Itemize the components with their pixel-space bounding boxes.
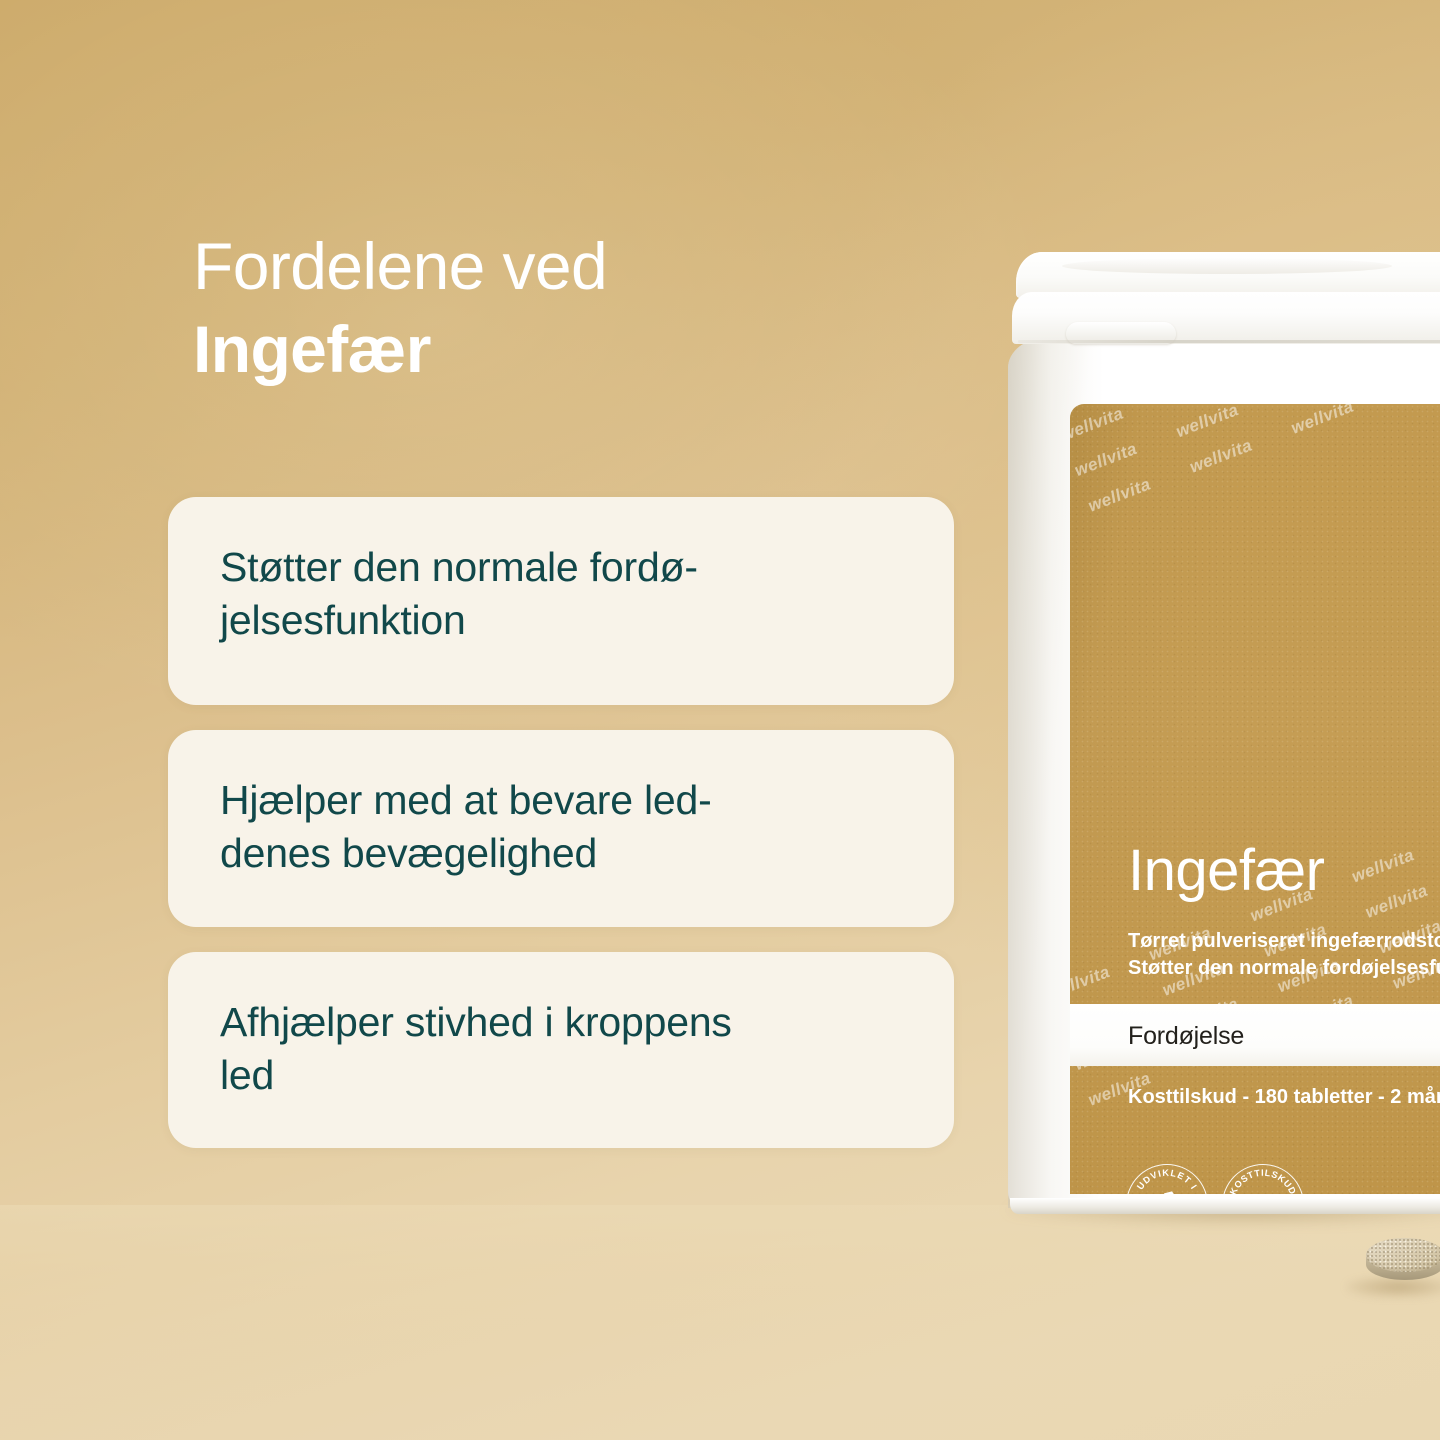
- badge-supplement-since-1983: KOSTTILSKUD SIDEN 1983 1983: [1222, 1164, 1304, 1194]
- wellvita-watermark-top: wellvita wellvita wellvita wellvita well…: [1070, 404, 1440, 564]
- benefit-card-joints: Hjælper med at bevare led- denes bevægel…: [168, 730, 954, 927]
- benefit-card-stiffness: Afhjælper stivhed i kroppens led: [168, 952, 954, 1149]
- denmark-map-icon: [1146, 1187, 1188, 1194]
- label-category-band: [1070, 1004, 1440, 1066]
- watermark-row: wellvita wellvita wellvita wellvita well…: [1070, 404, 1440, 493]
- watermark-word: wellvita: [1160, 404, 1228, 406]
- jar-lid-seam: [1018, 340, 1440, 343]
- product-description: Tørret pulveriseret ingefærrodstok. Støt…: [1128, 928, 1440, 982]
- watermark-word: wellvita: [1072, 439, 1140, 480]
- headline-line-1: Fordelene ved: [193, 228, 833, 305]
- table-surface: [0, 1205, 1440, 1440]
- watermark-word: wellvita: [1070, 404, 1126, 445]
- tablet-face: [1366, 1238, 1440, 1272]
- watermark-word: wellvita: [1187, 436, 1255, 477]
- watermark-word: wellvita: [1288, 404, 1356, 438]
- headline-line-2: Ingefær: [193, 311, 833, 388]
- product-label: wellvita wellvita wellvita wellvita well…: [1070, 404, 1440, 1194]
- watermark-word: wellvita: [1086, 474, 1154, 515]
- watermark-word: wellvita: [1349, 845, 1417, 886]
- watermark-word: wellvita: [1070, 962, 1113, 1003]
- watermark-word: wellvita: [1363, 881, 1431, 922]
- watermark-word: wellvita: [1173, 404, 1241, 441]
- page-title: Fordelene ved Ingefær: [193, 228, 833, 387]
- watermark-word: wellvita: [1070, 404, 1113, 409]
- benefit-text: Hjælper med at bevare led- denes bevægel…: [220, 774, 902, 881]
- promo-image: Fordelene ved Ingefær Støtter den normal…: [0, 0, 1440, 1440]
- product-name: Ingefær: [1128, 842, 1324, 900]
- product-subline: Kosttilskud - 180 tabletter - 2 måneders…: [1128, 1086, 1440, 1109]
- benefit-card-digestion: Støtter den normale fordø- jelsesfunktio…: [168, 497, 954, 705]
- badge-year: 1983: [1223, 1189, 1303, 1194]
- jar-bottom-edge: [1010, 1198, 1440, 1214]
- product-jar: wellvita wellvita wellvita wellvita well…: [1008, 252, 1440, 1212]
- badge-developed-in-denmark: UDVIKLET I DANMARK: [1126, 1164, 1208, 1194]
- benefit-text: Afhjælper stivhed i kroppens led: [220, 996, 902, 1103]
- watermark-row: wellvita wellvita wellvita wellvita well…: [1070, 404, 1440, 564]
- ginger-tablet: [1362, 1232, 1440, 1296]
- watermark-row: wellvita wellvita wellvita wellvita well…: [1070, 404, 1440, 528]
- product-category: Fordøjelse: [1128, 1022, 1244, 1051]
- watermark-row: wellvita wellvita wellvita wellvita well…: [1070, 404, 1440, 457]
- benefits-list: Støtter den normale fordø- jelsesfunktio…: [168, 497, 954, 1148]
- benefit-text: Støtter den normale fordø- jelsesfunktio…: [220, 541, 902, 648]
